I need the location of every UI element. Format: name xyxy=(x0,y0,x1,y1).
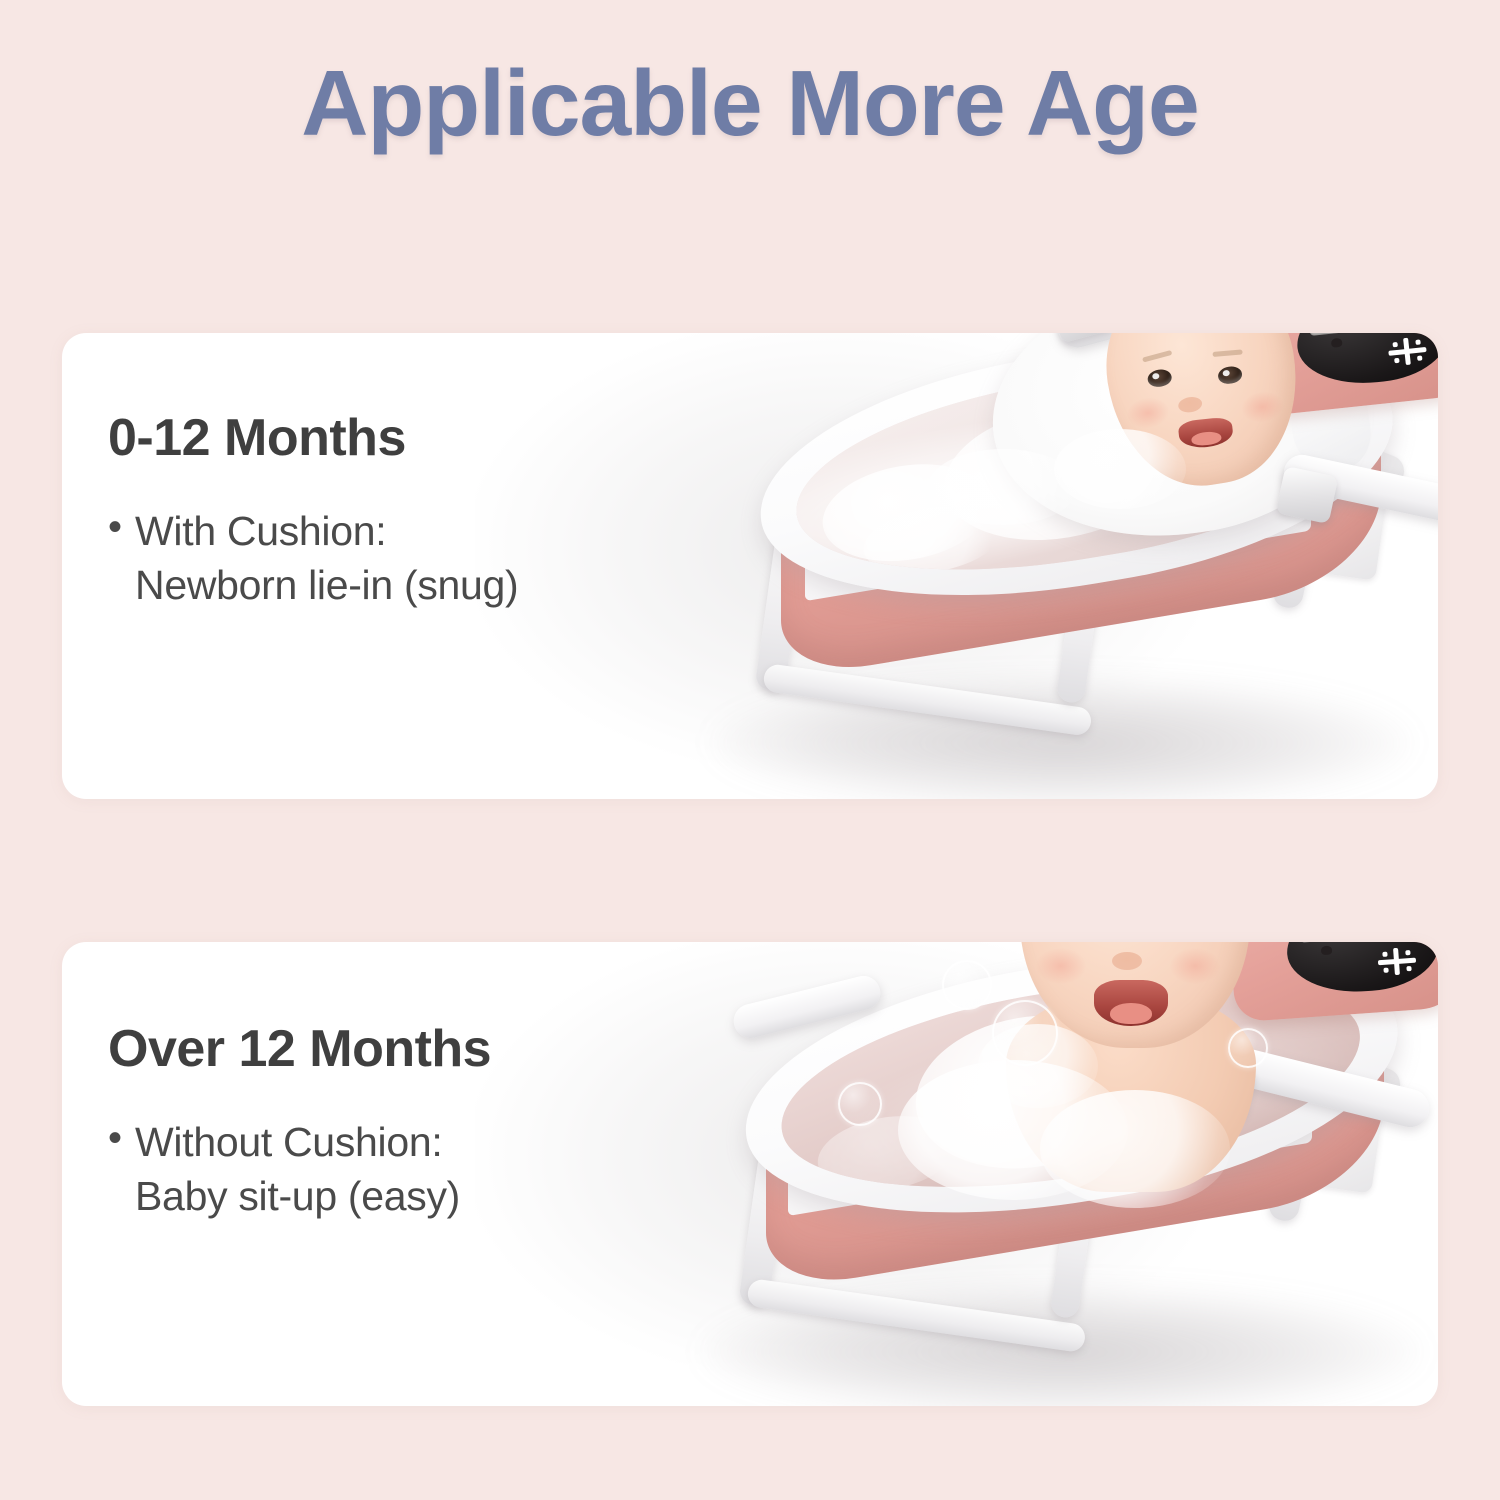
card-inner-0: 0-12 Months • With Cushion: Newborn lie-… xyxy=(62,333,1438,799)
bath-suds xyxy=(928,449,1078,525)
bullet-line: Baby sit-up (easy) xyxy=(135,1169,460,1224)
baby-cheek xyxy=(1036,948,1086,984)
thermometer-display xyxy=(1299,942,1345,943)
soap-bubble xyxy=(1228,1028,1268,1068)
bullet-text: With Cushion: Newborn lie-in (snug) xyxy=(135,504,518,613)
baby-cheek xyxy=(1125,395,1171,431)
card-bullet: • Without Cushion: Baby sit-up (easy) xyxy=(108,1115,491,1224)
thermometer-eye-icon xyxy=(1321,945,1333,955)
baby-cheek xyxy=(1170,948,1220,984)
card-text-block-1: Over 12 Months • Without Cushion: Baby s… xyxy=(108,1022,491,1224)
bullet-line: Without Cushion: xyxy=(135,1115,460,1170)
bath-suds xyxy=(1040,1090,1230,1208)
card-heading: 0-12 Months xyxy=(108,411,518,466)
bullet-line: With Cushion: xyxy=(135,504,518,559)
product-image-0-12-months xyxy=(662,333,1438,799)
baby-brow xyxy=(1142,350,1172,363)
baby-mouth xyxy=(1094,980,1168,1026)
tub-head-pink xyxy=(1226,942,1438,1022)
thermometer-eye-icon xyxy=(1331,338,1343,348)
age-card-over-12-months: Over 12 Months • Without Cushion: Baby s… xyxy=(62,942,1438,1406)
baby-nose xyxy=(1177,395,1203,414)
baby-nose xyxy=(1112,952,1142,970)
bullet-line: Newborn lie-in (snug) xyxy=(135,558,518,613)
thermometer-cross-icon xyxy=(1375,945,1419,978)
card-bullet: • With Cushion: Newborn lie-in (snug) xyxy=(108,504,518,613)
baby-eye-left xyxy=(1146,368,1172,389)
baby-brow xyxy=(1212,349,1242,357)
soap-bubble xyxy=(942,960,992,1010)
card-heading: Over 12 Months xyxy=(108,1022,491,1077)
page-title: Applicable More Age xyxy=(0,52,1500,154)
product-image-over-12-months xyxy=(642,942,1438,1406)
baby-mouth xyxy=(1178,416,1235,449)
card-text-block-0: 0-12 Months • With Cushion: Newborn lie-… xyxy=(108,411,518,613)
baby-cheek xyxy=(1239,389,1285,425)
bullet-marker: • xyxy=(108,504,122,550)
age-card-0-12-months: 0-12 Months • With Cushion: Newborn lie-… xyxy=(62,333,1438,799)
thermometer-cross-icon xyxy=(1385,334,1430,368)
card-inner-1: Over 12 Months • Without Cushion: Baby s… xyxy=(62,942,1438,1406)
soap-bubble xyxy=(992,1000,1058,1066)
bullet-text: Without Cushion: Baby sit-up (easy) xyxy=(135,1115,460,1224)
baby-eye-right xyxy=(1217,365,1243,386)
thermometer-pad xyxy=(1284,942,1438,996)
bullet-marker: • xyxy=(108,1115,122,1161)
thermometer-display xyxy=(1308,333,1354,336)
thermometer-pad xyxy=(1293,333,1438,390)
soap-bubble xyxy=(838,1082,882,1126)
